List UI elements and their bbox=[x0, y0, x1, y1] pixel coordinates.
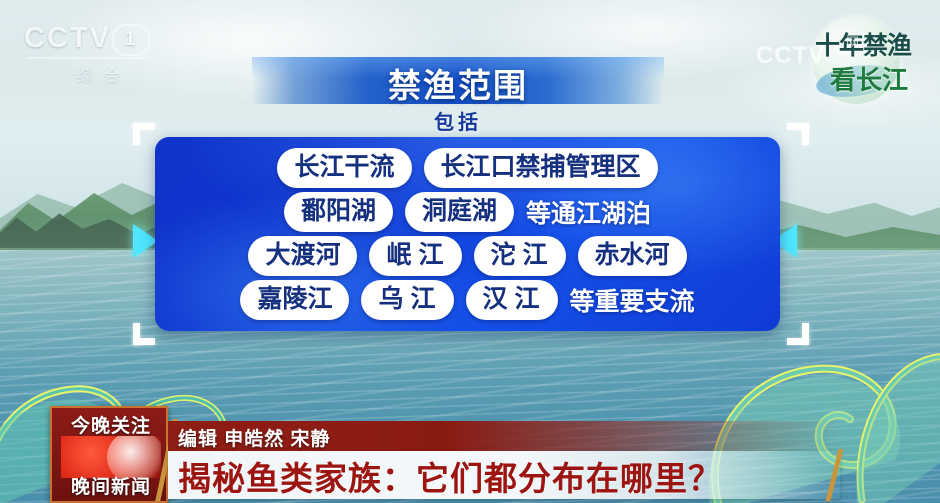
watermark-cctv-overlay: CCTV bbox=[756, 42, 825, 70]
wave-spiral-right-2 bbox=[852, 300, 940, 503]
scope-pill[interactable]: 汉江 bbox=[466, 280, 558, 320]
page-title: 禁渔范围 bbox=[252, 59, 664, 107]
editor-credit: 编辑 申皓然 宋静 bbox=[178, 424, 331, 451]
scope-pill[interactable]: 长江干流 bbox=[277, 148, 411, 188]
scope-row-tail: 等通江湖泊 bbox=[526, 194, 651, 230]
title-band: 禁渔范围 bbox=[252, 57, 664, 104]
logo-rule bbox=[28, 57, 146, 59]
program-badge: 今晚关注 晚间新闻 bbox=[50, 406, 168, 503]
watermark-net-overlay: 网 bbox=[846, 32, 859, 51]
scope-pill[interactable]: 大渡河 bbox=[248, 236, 357, 276]
scope-pill[interactable]: 赤水河 bbox=[578, 236, 687, 276]
scope-pill[interactable]: 岷江 bbox=[369, 236, 461, 276]
corner-bracket-bottom-left bbox=[133, 323, 155, 345]
badge-bottom-label: 晚间新闻 bbox=[52, 472, 170, 499]
scope-pill[interactable]: 长江口禁捕管理区 bbox=[424, 148, 658, 188]
corner-bracket-top-right bbox=[787, 123, 809, 145]
scope-pill[interactable]: 乌江 bbox=[361, 280, 453, 320]
fishing-ban-scope-panel: 长江干流长江口禁捕管理区鄱阳湖洞庭湖等通江湖泊大渡河岷江沱江赤水河嘉陵江乌江汉江… bbox=[155, 137, 780, 331]
scope-row: 长江干流长江口禁捕管理区 bbox=[155, 146, 780, 190]
scope-row-tail: 等重要支流 bbox=[570, 282, 695, 318]
corner-bracket-bottom-right bbox=[787, 323, 809, 345]
scope-pill[interactable]: 嘉陵江 bbox=[240, 280, 349, 320]
scope-pill[interactable]: 鄱阳湖 bbox=[284, 192, 393, 232]
page-subtitle: 包括 bbox=[252, 106, 664, 135]
headline: 揭秘鱼类家族：它们都分布在哪里？ bbox=[178, 452, 722, 500]
channel-logo-text: CCTV bbox=[24, 22, 111, 54]
channel-logo-sub: 综合 bbox=[24, 62, 174, 86]
scope-row: 嘉陵江乌江汉江等重要支流 bbox=[155, 278, 780, 322]
scope-row: 大渡河岷江沱江赤水河 bbox=[155, 234, 780, 278]
channel-logo: CCTV1 综合 bbox=[24, 22, 174, 84]
channel-logo-number: 1 bbox=[112, 24, 150, 56]
corner-bracket-top-left bbox=[133, 123, 155, 145]
badge-top-label: 今晚关注 bbox=[52, 411, 170, 438]
scope-pill[interactable]: 沱江 bbox=[474, 236, 566, 276]
scope-row: 鄱阳湖洞庭湖等通江湖泊 bbox=[155, 190, 780, 234]
scope-row-list: 长江干流长江口禁捕管理区鄱阳湖洞庭湖等通江湖泊大渡河岷江沱江赤水河嘉陵江乌江汉江… bbox=[155, 137, 780, 331]
watermark-line-2: 看长江 bbox=[816, 60, 922, 97]
broadcast-screen: CCTV1 综合 十年禁渔 看长江 CCTV 网 禁渔范围 包括 长江干流长江口… bbox=[0, 0, 940, 503]
program-watermark: 十年禁渔 看长江 CCTV 网 bbox=[804, 14, 922, 106]
scope-pill[interactable]: 洞庭湖 bbox=[405, 192, 514, 232]
